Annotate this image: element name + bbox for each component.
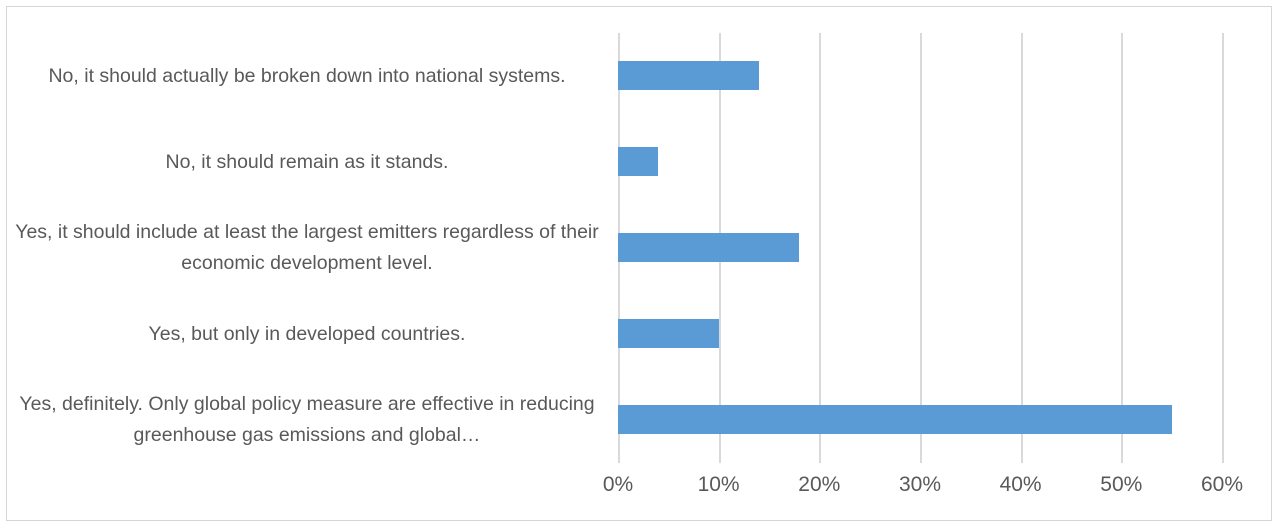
bar[interactable] (618, 61, 759, 90)
category-label-text: Yes, but only in developed countries. (149, 319, 470, 350)
xtick-label: 40% (1000, 470, 1042, 500)
plot-area (618, 33, 1222, 463)
bar[interactable] (618, 233, 799, 262)
xtick-label: 0% (603, 470, 633, 500)
category-axis-labels: No, it should actually be broken down in… (10, 33, 608, 463)
xtick-label: 30% (899, 470, 941, 500)
bar-row (618, 33, 1222, 119)
category-label-4: Yes, definitely. Only global policy meas… (10, 377, 608, 463)
bar-row (618, 205, 1222, 291)
bar-row (618, 291, 1222, 377)
xtick-label: 10% (698, 470, 740, 500)
xtick-label: 20% (798, 470, 840, 500)
category-label-text: Yes, it should include at least the larg… (13, 217, 605, 279)
chart-container: No, it should actually be broken down in… (0, 0, 1280, 528)
category-label-0: No, it should actually be broken down in… (10, 33, 608, 119)
category-label-1: No, it should remain as it stands. (10, 119, 608, 205)
bar[interactable] (618, 319, 719, 348)
bar-row (618, 377, 1222, 463)
xtick-label: 60% (1201, 470, 1243, 500)
category-label-text: No, it should actually be broken down in… (48, 61, 569, 92)
category-label-3: Yes, but only in developed countries. (10, 291, 608, 377)
gridline-60 (1222, 33, 1224, 463)
value-axis-labels: 0% 10% 20% 30% 40% 50% 60% (0, 470, 1280, 510)
category-label-2: Yes, it should include at least the larg… (10, 205, 608, 291)
bar[interactable] (618, 147, 658, 176)
category-label-text: Yes, definitely. Only global policy meas… (13, 389, 605, 451)
bar-row (618, 119, 1222, 205)
bar[interactable] (618, 405, 1172, 434)
xtick-label: 50% (1100, 470, 1142, 500)
category-label-text: No, it should remain as it stands. (166, 147, 453, 178)
